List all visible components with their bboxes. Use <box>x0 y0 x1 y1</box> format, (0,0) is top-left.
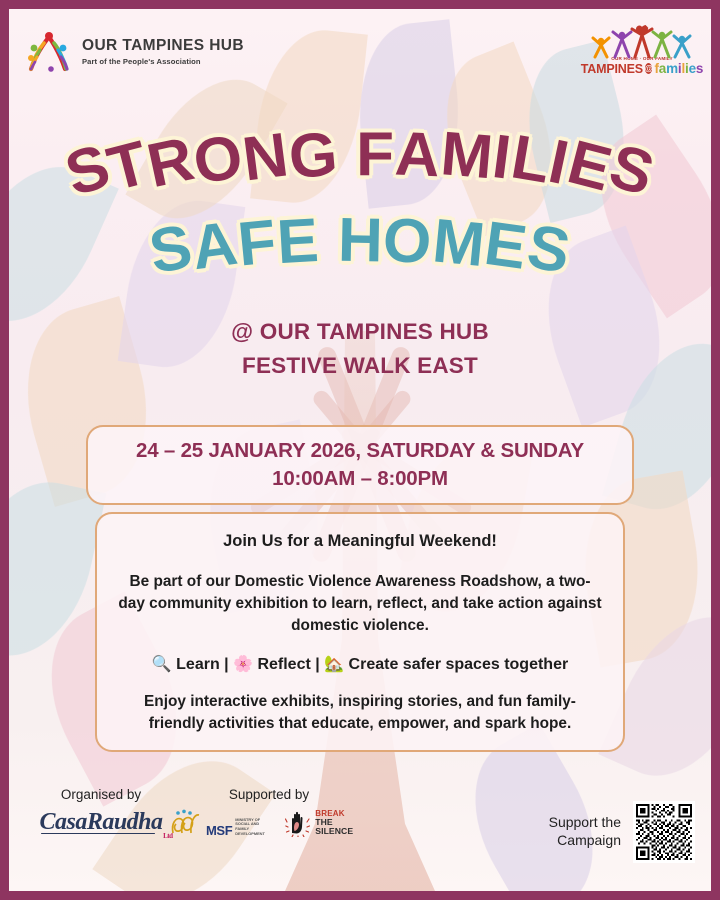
support-campaign-label: Support the Campaign <box>549 814 621 850</box>
msf-abbr: MSF <box>206 824 232 837</box>
title-line-1-text: STRONG FAMILIES <box>67 119 654 190</box>
event-dates: 24 – 25 JANUARY 2026, SATURDAY & SUNDAY <box>98 438 622 463</box>
title-line-2: SAFE HOMES <box>9 205 711 276</box>
supported-by-label: Supported by <box>169 787 369 802</box>
description-paragraph-1: Be part of our Domestic Violence Awarene… <box>117 571 603 637</box>
support-campaign-line-2: Campaign <box>549 832 621 850</box>
poster-header: OUR TAMPINES HUB Part of the People's As… <box>9 9 711 95</box>
venue-block: @ OUR TAMPINES HUB FESTIVE WALK EAST <box>9 315 711 383</box>
poster-footer: Organised by CasaRaudha Ltd Supported by <box>9 787 711 883</box>
support-campaign-line-1: Support the <box>549 814 621 832</box>
break-the-silence-line-2: THE SILENCE <box>315 818 369 836</box>
description-box: Join Us for a Meaningful Weekend! Be par… <box>95 512 625 752</box>
supporters-block: Supported by <box>169 787 369 837</box>
msf-full-name: MINISTRY OF SOCIAL AND FAMILY DEVELOPMEN… <box>235 818 269 838</box>
poster-title: STRONG FAMILIES SAFE HOMES <box>9 113 711 293</box>
tampines-families-figures-icon <box>585 25 699 59</box>
description-paragraph-2: Enjoy interactive exhibits, inspiring st… <box>117 691 603 735</box>
oth-logo-title: OUR TAMPINES HUB <box>82 38 244 54</box>
poster-canvas: OUR TAMPINES HUB Part of the People's As… <box>9 9 711 891</box>
venue-line-2: FESTIVE WALK EAST <box>9 349 711 383</box>
casaraudha-name: CasaRaudha <box>39 809 162 835</box>
our-tampines-hub-logo: OUR TAMPINES HUB Part of the People's As… <box>25 31 244 73</box>
msf-full-line-3: DEVELOPMENT <box>235 832 269 837</box>
event-times: 10:00AM – 8:00PM <box>98 466 622 491</box>
break-the-silence-logo: BREAK THE SILENCE <box>285 809 369 837</box>
msf-logo-icon <box>169 809 203 837</box>
date-time-box: 24 – 25 JANUARY 2026, SATURDAY & SUNDAY … <box>86 425 634 505</box>
title-line-2-text: SAFE HOMES <box>150 205 570 276</box>
oth-logo-subtitle: Part of the People's Association <box>82 57 244 66</box>
tampines-families-logo: OUR HOME · OUR FAMILY TAMPINES @ familie… <box>585 25 699 76</box>
msf-logo: MSF MINISTRY OF SOCIAL AND FAMILY DEVELO… <box>169 809 269 837</box>
break-the-silence-hand-icon <box>285 809 311 837</box>
casaraudha-logo: CasaRaudha Ltd <box>39 809 162 836</box>
our-tampines-hub-people-logo-icon <box>25 31 73 73</box>
organised-by-label: Organised by <box>31 787 171 802</box>
tampines-families-prefix: TAMPINES <box>581 63 643 76</box>
organiser-block: Organised by CasaRaudha Ltd <box>31 787 171 836</box>
campaign-block: Support the Campaign <box>549 801 695 863</box>
title-line-1: STRONG FAMILIES <box>9 119 711 190</box>
poster-frame: OUR TAMPINES HUB Part of the People's As… <box>0 0 720 900</box>
tampines-families-word: families <box>654 62 703 76</box>
qr-code-icon[interactable] <box>633 801 695 863</box>
venue-line-1: @ OUR TAMPINES HUB <box>9 315 711 349</box>
description-headline: Join Us for a Meaningful Weekend! <box>117 532 603 551</box>
at-symbol-icon: @ <box>645 63 653 74</box>
activity-icon-line: 🔍 Learn | 🌸 Reflect | 🏡 Create safer spa… <box>117 654 603 674</box>
tampines-families-brand: TAMPINES @ families <box>585 62 699 76</box>
